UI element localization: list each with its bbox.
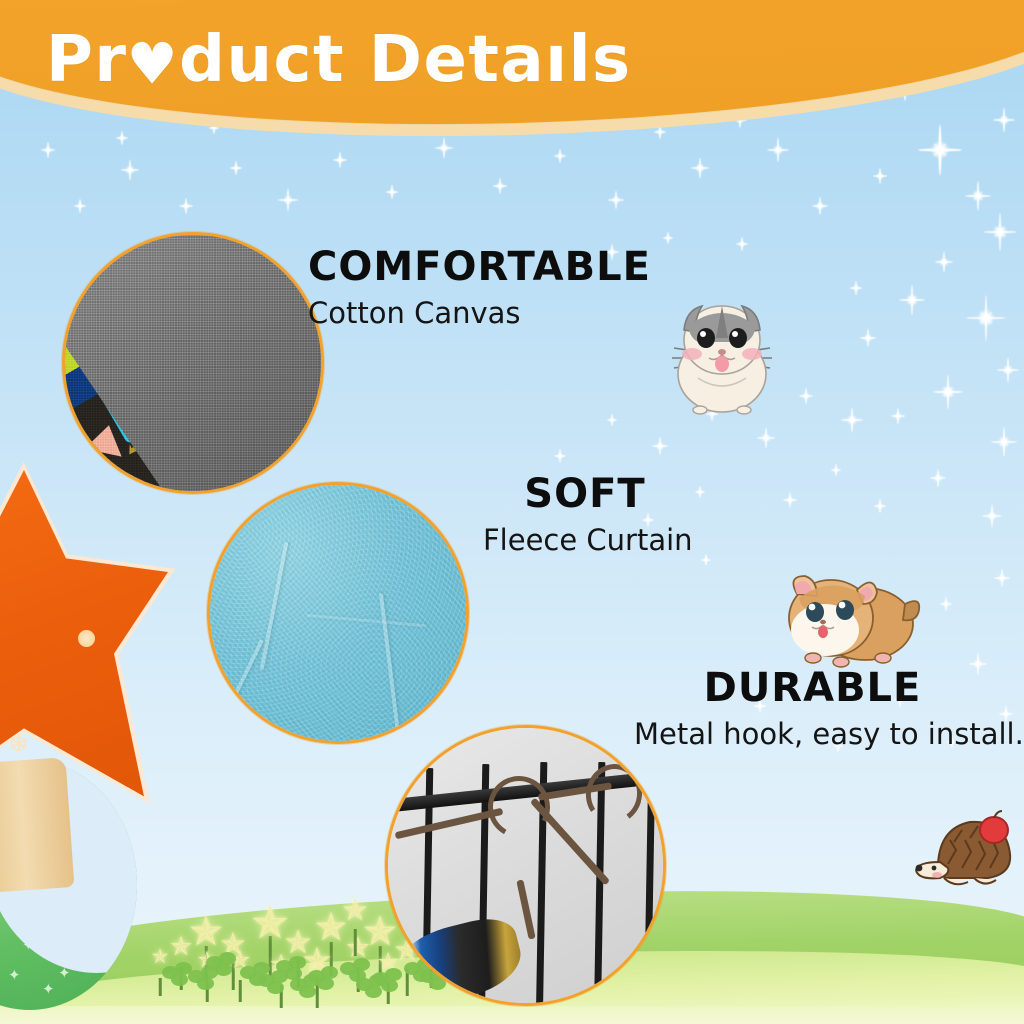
feature-title: SOFT bbox=[483, 474, 687, 514]
leaf-cluster bbox=[356, 974, 390, 996]
feature-soft: SOFT Fleece Curtain bbox=[483, 474, 687, 555]
feature-comfortable: COMFORTABLE Cotton Canvas bbox=[308, 247, 651, 328]
leaf-cluster bbox=[162, 962, 196, 984]
brown-hamster-illustration bbox=[779, 552, 923, 674]
flower-head: ✯ bbox=[342, 896, 367, 926]
page-title-part1: Pr bbox=[46, 23, 127, 97]
ground-strip bbox=[0, 1006, 1024, 1024]
leaf-cluster bbox=[258, 970, 292, 992]
photo-circle-fleece-curtain bbox=[207, 482, 469, 744]
flower-stem bbox=[159, 978, 162, 996]
product-details-graphic: ✯✯✯✯✯✯✯✯✯✯✯✯✯✯✯✯✯ ✦✦✦✦✦✦✦✦✦✦✦✦✦✦✦✦ ❄ ❄ ❄ bbox=[0, 0, 1024, 1024]
photo-circle-cotton-canvas bbox=[62, 232, 324, 494]
star-flower: ✯ bbox=[340, 896, 370, 956]
moon-star-dot: ✦ bbox=[42, 982, 55, 997]
feature-subtitle: Cotton Canvas bbox=[308, 299, 651, 328]
hedgehog-with-apple-illustration bbox=[910, 808, 1018, 892]
photo-circle-metal-hook bbox=[385, 725, 666, 1006]
feature-durable: DURABLE Metal hook, easy to install. bbox=[634, 668, 991, 749]
moon-star-dot: ✦ bbox=[8, 968, 21, 983]
feature-subtitle: Fleece Curtain bbox=[483, 526, 687, 555]
page-title: Pr♥duct Detaıls bbox=[46, 28, 632, 92]
heart-icon: ♥ bbox=[127, 36, 180, 93]
flower-head: ✯ bbox=[170, 934, 192, 960]
moon-star-dot: ✦ bbox=[22, 938, 35, 953]
header-banner: Pr♥duct Detaıls bbox=[0, 0, 1024, 175]
moon-star-dot: ✦ bbox=[68, 930, 81, 945]
moon-star-dot: ✦ bbox=[58, 966, 71, 981]
feature-subtitle: Metal hook, easy to install. bbox=[634, 720, 991, 749]
flower-stem bbox=[354, 929, 357, 956]
feature-title: COMFORTABLE bbox=[308, 247, 651, 287]
leaf-cluster bbox=[290, 974, 324, 996]
page-title-part2: duct Detaıls bbox=[179, 23, 631, 97]
orange-star-mushroom-cap: ❄ ❄ ❄ bbox=[0, 470, 180, 810]
gray-hamster-illustration bbox=[658, 282, 786, 416]
